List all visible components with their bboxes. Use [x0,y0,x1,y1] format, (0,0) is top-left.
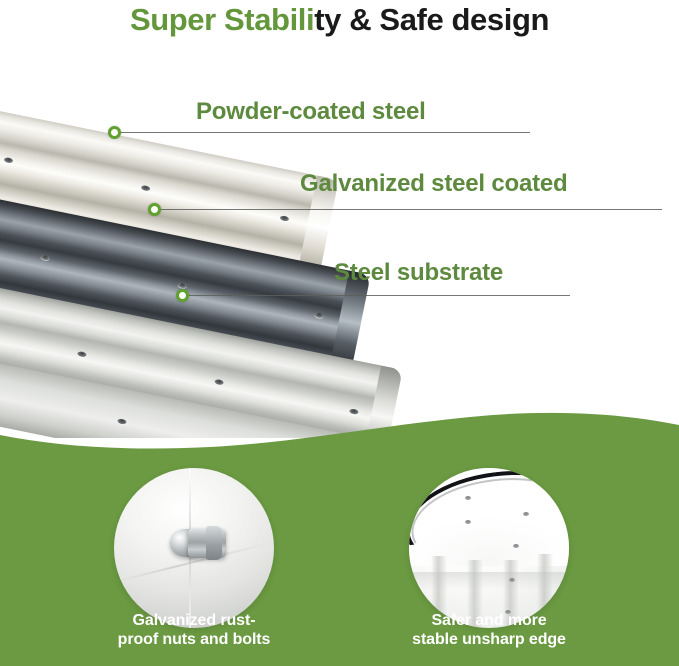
layer-marker-powder-coated-icon [108,126,121,139]
title-green-segment: Super Stabili [130,2,314,37]
leader-line [160,209,662,210]
bolt-facet [206,526,222,560]
rolled-edge-closeup-photo [409,468,569,628]
infographic-canvas: Super Stability & Safe design [0,0,679,666]
callout-label-steel-substrate: Steel substrate [334,259,503,287]
callout-label-powder-coated-steel: Powder-coated steel [196,98,426,126]
title-black-segment: ty & Safe design [314,2,549,37]
screw-icon [465,520,471,524]
garden-bed-wall [409,468,569,628]
feature-caption-edge: Safer and more stable unsharp edge [359,611,619,649]
screw-icon [523,512,529,516]
page-title: Super Stability & Safe design [0,1,679,39]
leader-line [188,295,570,296]
screw-icon [513,544,519,548]
bolt-closeup-photo [114,468,274,628]
leader-line [118,132,530,133]
screw-icon [509,578,515,582]
layer-marker-substrate-icon [176,289,189,302]
screw-icon [465,496,471,500]
callout-label-galvanized-steel-coated: Galvanized steel coated [300,170,568,198]
feature-caption-bolts: Galvanized rust- proof nuts and bolts [64,611,324,649]
layer-marker-galvanized-icon [148,203,161,216]
